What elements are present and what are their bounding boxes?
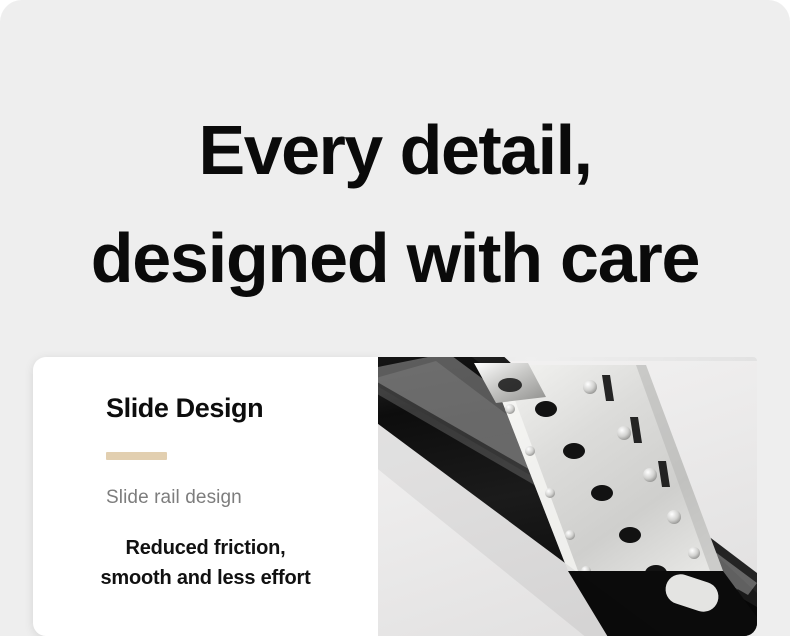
product-photo: [378, 357, 757, 636]
slide-rail-illustration: [378, 357, 757, 636]
card-benefit-text: Reduced friction, smooth and less effort: [33, 533, 378, 593]
hero-heading-line-2: designed with care: [0, 204, 790, 312]
card-title: Slide Design: [106, 393, 263, 424]
slide-design-card: Slide Design Slide rail design Reduced f…: [33, 357, 378, 636]
card-subtitle: Slide rail design: [106, 487, 242, 509]
hero-heading: Every detail, designed with care: [0, 96, 790, 312]
benefit-line-2: smooth and less effort: [63, 563, 348, 593]
benefit-line-1: Reduced friction,: [63, 533, 348, 563]
accent-divider-bar: [106, 452, 167, 460]
hero-heading-line-1: Every detail,: [0, 96, 790, 204]
product-detail-page: Every detail, designed with care Slide D…: [0, 0, 790, 636]
feature-section: Slide Design Slide rail design Reduced f…: [33, 357, 757, 636]
